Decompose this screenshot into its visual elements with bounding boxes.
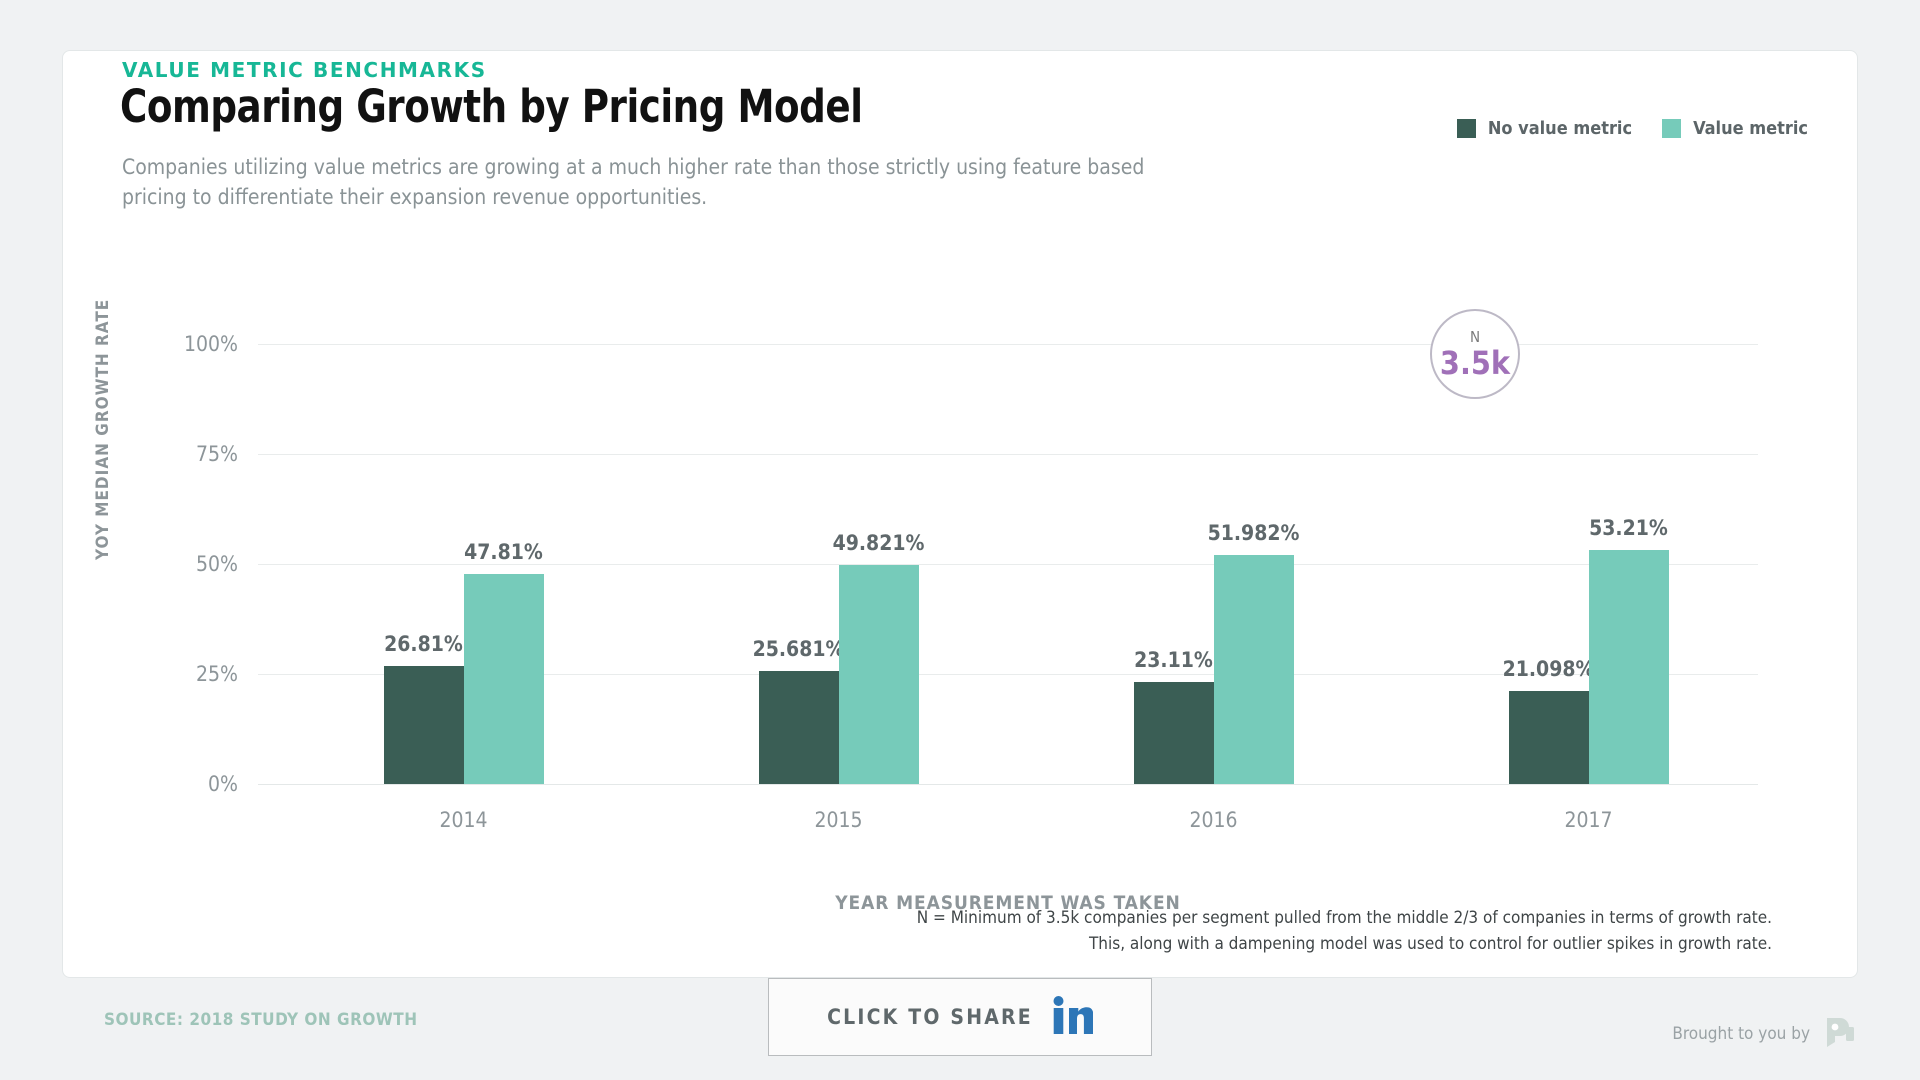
legend-swatch-icon xyxy=(1662,119,1681,138)
bar-value-label: 51.982% xyxy=(1154,521,1354,545)
profitwell-logo xyxy=(1824,1015,1858,1052)
linkedin-icon xyxy=(1053,996,1093,1039)
infographic-root: VALUE METRIC BENCHMARKS Comparing Growth… xyxy=(0,0,1920,1080)
sample-size-badge: N 3.5k xyxy=(1430,309,1520,399)
bar-group: 26.81%47.81% xyxy=(384,344,544,784)
legend-item-no-value-metric[interactable]: No value metric xyxy=(1457,118,1632,139)
brought-to-you-by-label: Brought to you by xyxy=(1672,1024,1810,1044)
share-button-label: CLICK TO SHARE xyxy=(827,1005,1033,1029)
share-button[interactable]: CLICK TO SHARE xyxy=(768,978,1152,1056)
bar[interactable] xyxy=(1589,550,1669,784)
y-axis-tick-label: 100% xyxy=(118,332,238,356)
bar[interactable] xyxy=(464,574,544,784)
x-axis-tick-label: 2015 xyxy=(739,808,939,832)
sample-size-letter: N xyxy=(1470,330,1480,345)
bar[interactable] xyxy=(384,666,464,784)
bar[interactable] xyxy=(1509,691,1589,784)
x-axis-tick-label: 2016 xyxy=(1114,808,1314,832)
chart-footnote: N = Minimum of 3.5k companies per segmen… xyxy=(900,905,1772,957)
x-axis-tick-label: 2014 xyxy=(364,808,564,832)
y-axis-tick-label: 0% xyxy=(118,772,238,796)
chart-legend: No value metric Value metric xyxy=(1457,118,1808,139)
eyebrow-label: VALUE METRIC BENCHMARKS xyxy=(122,58,487,82)
legend-item-value-metric[interactable]: Value metric xyxy=(1662,118,1808,139)
bar-group: 23.11%51.982% xyxy=(1134,344,1294,784)
bar[interactable] xyxy=(839,565,919,784)
y-axis-tick-label: 25% xyxy=(118,662,238,686)
chart-plot-area: YEAR MEASUREMENT WAS TAKEN 0%25%50%75%10… xyxy=(258,344,1758,784)
bar[interactable] xyxy=(1134,682,1214,784)
y-axis-title: YOY MEDIAN GROWTH RATE xyxy=(93,299,113,560)
page-title: Comparing Growth by Pricing Model xyxy=(120,80,862,133)
x-axis-tick-label: 2017 xyxy=(1489,808,1689,832)
page-subtitle: Companies utilizing value metrics are gr… xyxy=(122,152,1182,212)
legend-swatch-icon xyxy=(1457,119,1476,138)
bar-group: 21.098%53.21% xyxy=(1509,344,1669,784)
bar-value-label: 53.21% xyxy=(1529,516,1729,540)
bar-value-label: 47.81% xyxy=(404,540,604,564)
legend-label: Value metric xyxy=(1693,118,1808,139)
bar[interactable] xyxy=(759,671,839,784)
bar[interactable] xyxy=(1214,555,1294,784)
gridline xyxy=(258,784,1758,785)
sample-size-value: 3.5k xyxy=(1440,347,1510,379)
brought-to-you-by: Brought to you by xyxy=(1672,1015,1858,1052)
bar-group: 25.681%49.821% xyxy=(759,344,919,784)
bar-value-label: 49.821% xyxy=(779,531,979,555)
y-axis-tick-label: 50% xyxy=(118,552,238,576)
y-axis-tick-label: 75% xyxy=(118,442,238,466)
legend-label: No value metric xyxy=(1488,118,1632,139)
source-label: SOURCE: 2018 STUDY ON GROWTH xyxy=(104,1010,418,1030)
